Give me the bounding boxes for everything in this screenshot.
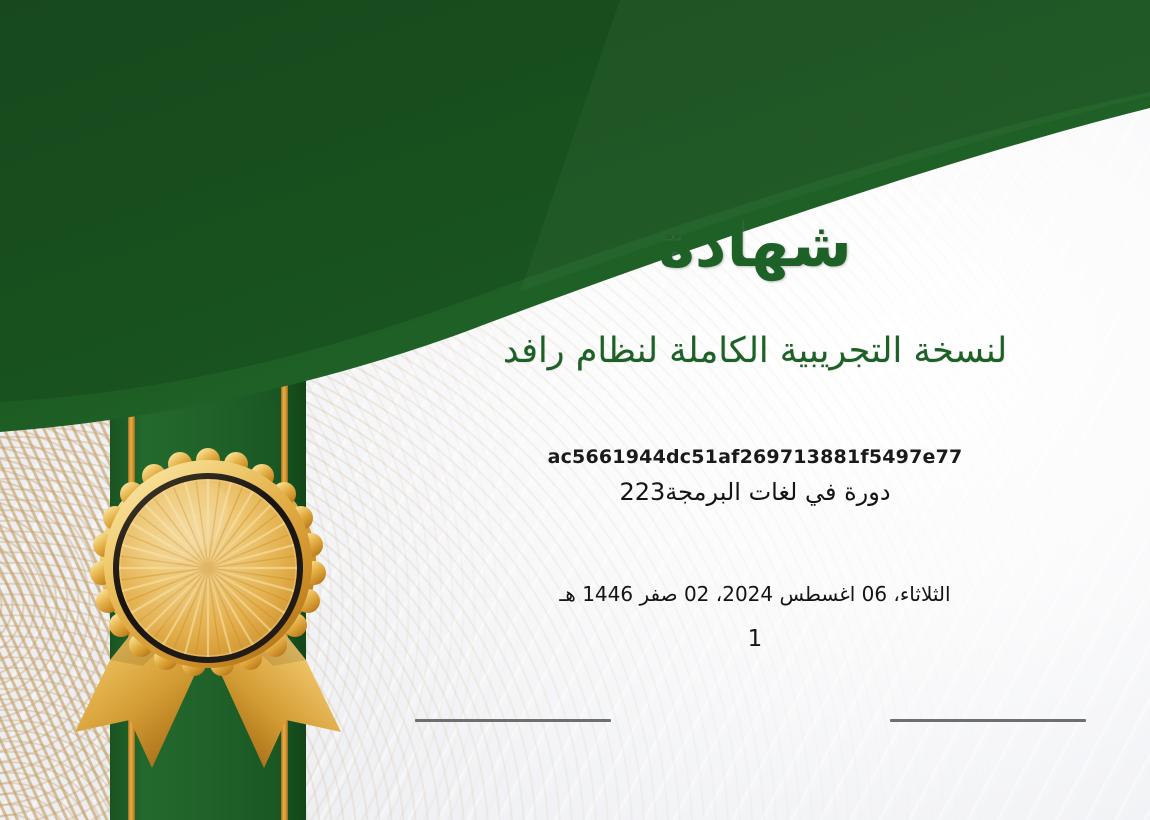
- signature-line-right: [890, 719, 1086, 722]
- certificate-hash: ac5661944dc51af269713881f5497e77: [380, 446, 1130, 468]
- certificate-course-name: دورة في لغات البرمجة223: [380, 478, 1130, 506]
- certificate-date: الثلاثاء، 06 اغسطس 2024، 02 صفر 1446 هـ: [380, 582, 1130, 606]
- certificate-text-column: شهادة لنسخة التجريبية الكاملة لنظام رافد…: [380, 0, 1130, 820]
- certificate-subtitle: لنسخة التجريبية الكاملة لنظام رافد: [380, 330, 1130, 372]
- certificate-serial-number: 1: [380, 626, 1130, 652]
- signature-line-left: [415, 719, 611, 722]
- certificate-title: شهادة: [380, 214, 1130, 276]
- certificate-page: شهادة لنسخة التجريبية الكاملة لنظام رافد…: [0, 0, 1150, 820]
